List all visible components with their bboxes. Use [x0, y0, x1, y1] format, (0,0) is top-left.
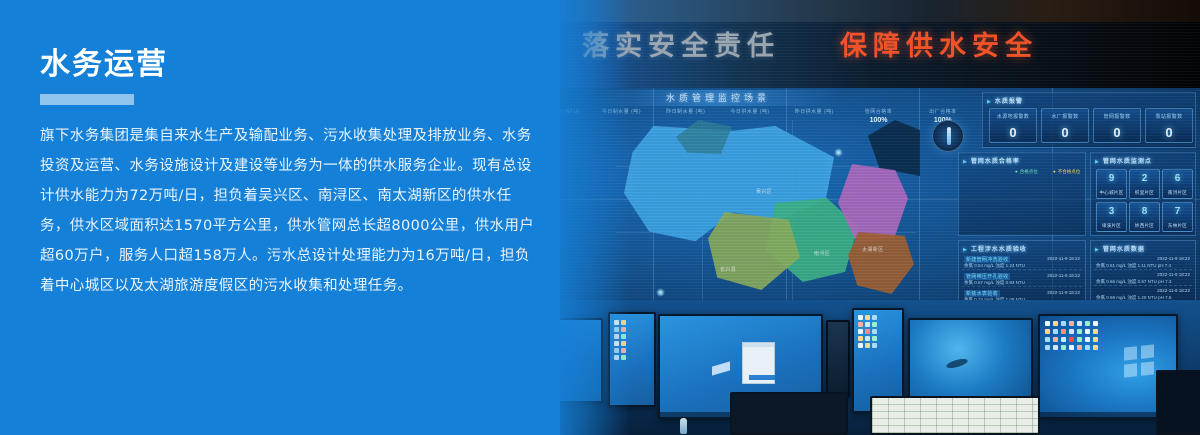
desktop-icon: [1045, 337, 1050, 342]
map-glow-marker: [656, 288, 665, 297]
acceptance-row-metrics: 余氯 0.54 mg/L 浊度 1.24 NTU: [964, 263, 1025, 269]
desktop-icon: [865, 322, 870, 327]
alarm-card-label: 水源地报警数: [990, 113, 1036, 120]
quality-row[interactable]: 2022-11-9 18:22 余氯 0.61 mg/L 浊度 1.11 NTU…: [1094, 255, 1192, 270]
desktop-icon: [1045, 329, 1050, 334]
desktop-icon: [1045, 321, 1050, 326]
desktop-icon: [1093, 329, 1098, 334]
spreadsheet-screen: [872, 398, 1038, 433]
desktop-icon: [1093, 321, 1098, 326]
point-cell-value: 9: [1097, 173, 1126, 184]
quality-row-metrics: 余氯 0.66 mg/L 浊度 0.97 NTU pH 7.3: [1096, 279, 1171, 285]
point-cell-value: 7: [1163, 206, 1192, 217]
alarm-panel: 水质报警 水源地报警数 0 水厂报警数 0 管网报警数 0 泵站报警数 0: [982, 92, 1196, 148]
map-label: 南浔区: [814, 250, 830, 257]
desktop-icon: [1061, 345, 1066, 350]
quality-row-date: 2022-11-9 18:22: [1157, 288, 1190, 293]
dialog-button[interactable]: [749, 375, 775, 380]
text-content: 水务运营 旗下水务集团是集自来水生产及输配业务、污水收集处理及排放业务、水务投资…: [40, 48, 560, 301]
map-label: 太湖新区: [862, 246, 884, 253]
alarm-card-label: 泵站报警数: [1146, 113, 1192, 120]
rate-panel-title: 管网水质合格率: [963, 156, 1020, 165]
monitor-dark-slim: [826, 320, 850, 398]
spreadsheet-laptop: [870, 396, 1040, 435]
side-equipment: [1156, 370, 1200, 435]
desktop-icon: [1053, 337, 1058, 342]
alarm-card-value: 0: [990, 125, 1036, 140]
desktop-icon: [872, 322, 877, 327]
point-cell-label: 东林片区: [1163, 223, 1192, 229]
acceptance-row-title: 管网带压开孔验收: [964, 273, 1010, 280]
acceptance-row-title: 新建管网冲洗验收: [964, 256, 1010, 263]
alarm-card-value: 0: [1042, 125, 1088, 140]
alarm-card[interactable]: 泵站报警数 0: [1145, 108, 1193, 143]
acceptance-row-date: 2022-11-9 18:22: [1047, 290, 1080, 295]
desktop-icon: [1093, 337, 1098, 342]
map-glow-marker: [834, 148, 843, 157]
desktop-icon: [1053, 329, 1058, 334]
desktop-icon: [1053, 345, 1058, 350]
point-cell-label: 埭溪片区: [1097, 223, 1126, 229]
desktop-icon: [865, 336, 870, 341]
dialog-titlebar: [743, 343, 774, 347]
windows-logo-icon: [1124, 345, 1154, 378]
alarm-card-value: 0: [1146, 125, 1192, 140]
district-map: 吴兴区 南浔区 长兴县 太湖新区: [616, 120, 916, 305]
desktop-icon: [865, 315, 870, 320]
desktop-icon: [1069, 345, 1074, 350]
foreground-laptop: [730, 392, 848, 435]
desktop-icon: [1077, 329, 1082, 334]
desktop-icon: [1085, 329, 1090, 334]
acceptance-row-date: 2022-11-9 18:22: [1047, 273, 1080, 278]
desktop-icon: [1061, 329, 1066, 334]
map-label: 长兴县: [720, 266, 736, 273]
slogan-water-supply-safety: 保障供水安全: [840, 24, 1038, 63]
desktop-icon: [872, 343, 877, 348]
desktop-icon: [872, 315, 877, 320]
point-cell-value: 3: [1097, 206, 1126, 217]
desktop-icon: [1069, 321, 1074, 326]
acceptance-panel-title: 工程涉水水质验收: [963, 244, 1027, 253]
desktop-icon: [1085, 337, 1090, 342]
quality-row-metrics: 余氯 0.61 mg/L 浊度 1.11 NTU pH 7.4: [1096, 263, 1171, 269]
map-region-taihu-new: [848, 232, 914, 294]
desktop-icon: [858, 336, 863, 341]
point-cell-label: 中心城片区: [1097, 190, 1126, 196]
page-title: 水务运营: [40, 48, 560, 81]
desktop-icon: [865, 343, 870, 348]
desktop-icon: [872, 336, 877, 341]
desktop-icon: [858, 343, 863, 348]
point-cell-label: 织里片区: [1130, 190, 1159, 196]
network-quality-rate-panel: 管网水质合格率 合格点位 不合格点位: [958, 152, 1086, 236]
water-operations-banner: 落实安全责任 保障供水安全 水质管理监控场景 出厂水浊度 (NTU) 今日制水量…: [0, 0, 1200, 435]
acceptance-panel: 工程涉水水质验收 新建管网冲洗验收 2022-11-9 18:22 余氯 0.5…: [958, 240, 1086, 306]
kpi-label: 昨日制水量 (吨): [659, 108, 713, 115]
alarm-card-label: 管网报警数: [1094, 113, 1140, 120]
monitor-screen: [828, 322, 848, 396]
alarm-card-value: 0: [1094, 125, 1140, 140]
desktop-icon: [858, 322, 863, 327]
monitoring-points-panel: 管网水质监测点 9 中心城片区 2 织里片区 6 南浔片区 3 埭溪片区: [1090, 152, 1196, 236]
water-bottle: [680, 418, 687, 434]
desktop-icon: [1069, 337, 1074, 342]
alarm-card[interactable]: 水厂报警数 0: [1041, 108, 1089, 143]
desktop-icon: [1061, 337, 1066, 342]
description-paragraph: 旗下水务集团是集自来水生产及输配业务、污水收集处理及排放业务、水务投资及运营、水…: [40, 121, 540, 301]
quality-panel-title: 管网水质数据: [1095, 244, 1145, 253]
desktop-icon: [1085, 321, 1090, 326]
dashboard-title: 水质管理监控场景: [598, 90, 838, 106]
desktop-icon: [858, 315, 863, 320]
pressure-gauge: [932, 120, 964, 152]
desktop-icon: [1069, 329, 1074, 334]
point-cell[interactable]: 2 织里片区: [1129, 169, 1160, 199]
quality-row[interactable]: 2022-11-9 18:22 余氯 0.66 mg/L 浊度 0.97 NTU…: [1094, 271, 1192, 286]
desktop-icon: [865, 329, 870, 334]
point-cell-value: 6: [1163, 173, 1192, 184]
map-label: 吴兴区: [756, 188, 772, 195]
desktop-icon: [872, 329, 877, 334]
alarm-card[interactable]: 管网报警数 0: [1093, 108, 1141, 143]
desktop-icon: [1045, 345, 1050, 350]
point-cell-label: 南浔片区: [1163, 190, 1192, 196]
quality-data-panel: 管网水质数据 2022-11-9 18:22 余氯 0.61 mg/L 浊度 1…: [1090, 240, 1196, 306]
dialog-window[interactable]: [742, 342, 775, 384]
desktop-icon-grid: [858, 315, 877, 348]
point-cell[interactable]: 6 南浔片区: [1162, 169, 1193, 199]
point-cell[interactable]: 9 中心城片区: [1096, 169, 1127, 199]
legend-unqualified: 不合格点位: [1053, 169, 1080, 175]
point-cell[interactable]: 7 东林片区: [1162, 202, 1193, 232]
desktop-icon: [1077, 321, 1082, 326]
desktop-icon: [1085, 345, 1090, 350]
desktop-icon: [1061, 321, 1066, 326]
acceptance-row-title: 新装水表验收: [964, 290, 1000, 297]
desktop-icon: [1053, 321, 1058, 326]
alarm-card[interactable]: 水源地报警数 0: [989, 108, 1037, 143]
alarm-panel-title: 水质报警: [987, 96, 1023, 105]
kpi-label: 管网合格率: [851, 108, 905, 115]
desktop-icon: [1077, 337, 1082, 342]
points-panel-title: 管网水质监测点: [1095, 156, 1152, 165]
desktop-icon: [858, 329, 863, 334]
kpi-label: 出厂合格率: [916, 108, 970, 115]
alarm-card-label: 水厂报警数: [1042, 113, 1088, 120]
kpi-label: 昨日供水量 (吨): [787, 108, 841, 115]
legend-qualified: 合格点位: [1015, 169, 1038, 175]
quality-row-date: 2022-11-9 18:22: [1157, 272, 1190, 277]
point-cell[interactable]: 8 妙西片区: [1129, 202, 1160, 232]
point-cell[interactable]: 3 埭溪片区: [1096, 202, 1127, 232]
acceptance-row-date: 2022-11-9 18:22: [1047, 256, 1080, 261]
desktop-icon: [1077, 345, 1082, 350]
desktop-icon-grid: [1045, 321, 1098, 350]
acceptance-row-metrics: 余氯 0.57 mg/L 浊度 0.93 NTU: [964, 280, 1025, 286]
map-region-changxing: [708, 212, 800, 290]
kpi-label: 今日供水量 (吨): [723, 108, 777, 115]
desktop-icon: [1093, 345, 1098, 350]
quality-row-date: 2022-11-9 18:22: [1157, 256, 1190, 261]
acceptance-row[interactable]: 管网带压开孔验收 2022-11-9 18:22 余氯 0.57 mg/L 浊度…: [962, 272, 1082, 287]
title-accent-bar: [40, 94, 134, 105]
point-cell-value: 8: [1130, 206, 1159, 217]
acceptance-row[interactable]: 新建管网冲洗验收 2022-11-9 18:22 余氯 0.54 mg/L 浊度…: [962, 255, 1082, 270]
point-cell-value: 2: [1130, 173, 1159, 184]
point-cell-label: 妙西片区: [1130, 223, 1159, 229]
